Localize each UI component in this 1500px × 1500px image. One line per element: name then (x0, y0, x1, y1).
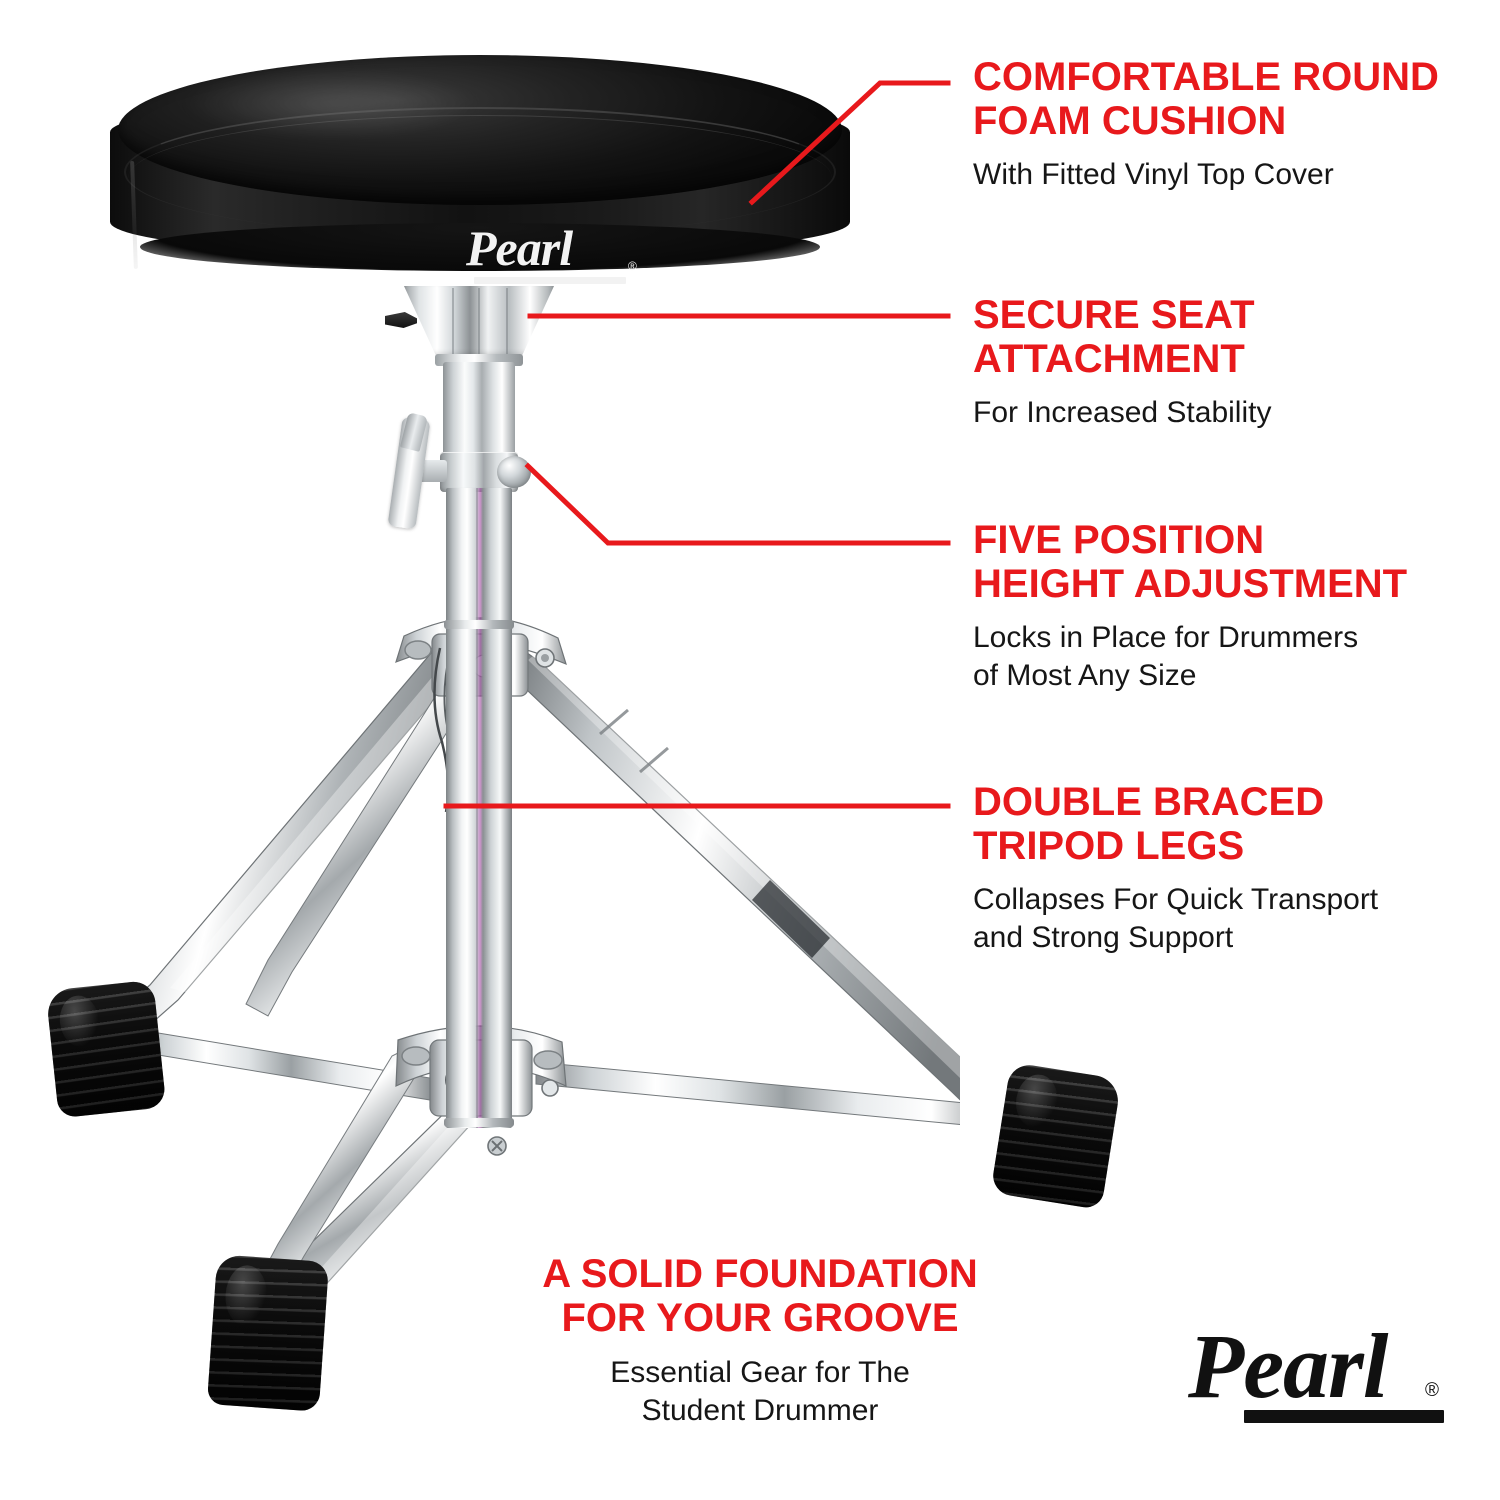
cushion-logo-underline (474, 277, 626, 284)
cushion-logo-registered-mark: ® (628, 259, 637, 273)
foam-cushion: Pearl ® (110, 55, 850, 295)
cone-ridge-2 (478, 288, 480, 356)
callout-heading: SECURE SEAT ATTACHMENT (973, 293, 1488, 381)
cushion-highlight (180, 69, 480, 139)
brace-right-horizontal (536, 1062, 960, 1128)
product-image: Pearl ® (0, 0, 960, 1460)
leg-right (508, 648, 960, 1132)
rubber-foot-ribs (207, 1254, 329, 1411)
post-ring-lower (444, 1118, 514, 1127)
post-ring-upper (444, 620, 514, 629)
callout-heading: FIVE POSITION HEIGHT ADJUSTMENT (973, 518, 1488, 606)
callout-heading: COMFORTABLE ROUND FOAM CUSHION (973, 55, 1488, 143)
rubber-foot-front (207, 1254, 329, 1411)
callout-heading: DOUBLE BRACED TRIPOD LEGS (973, 780, 1488, 868)
rubber-foot-ribs (990, 1062, 1121, 1210)
callout-subtext: With Fitted Vinyl Top Cover (973, 156, 1488, 194)
cone-ridge-1 (452, 288, 454, 356)
leg-left (108, 640, 470, 1044)
height-adjustment-knob (497, 456, 531, 488)
callout-subtext: For Increased Stability (973, 394, 1488, 432)
cushion-logo-text: Pearl (466, 220, 572, 276)
callout-double-braced-tripod-legs: DOUBLE BRACED TRIPOD LEGS Collapses For … (973, 780, 1488, 957)
infographic-page: Pearl ® (0, 0, 1500, 1500)
callout-comfortable-round-foam-cushion: COMFORTABLE ROUND FOAM CUSHION With Fitt… (973, 55, 1488, 194)
tagline-heading: A SOLID FOUNDATION FOR YOUR GROOVE (380, 1252, 1140, 1340)
callout-subtext: Locks in Place for Drummers of Most Any … (973, 619, 1488, 695)
callout-secure-seat-attachment: SECURE SEAT ATTACHMENT For Increased Sta… (973, 293, 1488, 432)
cone-ridge-3 (506, 288, 508, 356)
rubber-foot-left (46, 980, 167, 1119)
tagline-block: A SOLID FOUNDATION FOR YOUR GROOVE Essen… (380, 1252, 1140, 1430)
lower-post-seam (476, 488, 478, 1128)
brand-logo-underline (1244, 1410, 1444, 1423)
brand-logo-text: Pearl (1188, 1318, 1387, 1414)
callout-subtext: Collapses For Quick Transport and Strong… (973, 881, 1488, 957)
callout-five-position-height-adjustment: FIVE POSITION HEIGHT ADJUSTMENT Locks in… (973, 518, 1488, 695)
cushion-pearl-logo: Pearl ® (466, 223, 666, 289)
pearl-brand-logo: Pearl ® (1182, 1318, 1462, 1434)
rubber-foot-ribs (46, 980, 167, 1119)
rubber-foot-right (990, 1062, 1121, 1210)
lower-post (446, 488, 512, 1128)
tagline-subtext: Essential Gear for The Student Drummer (380, 1354, 1140, 1430)
brand-logo-registered-mark: ® (1425, 1380, 1439, 1402)
